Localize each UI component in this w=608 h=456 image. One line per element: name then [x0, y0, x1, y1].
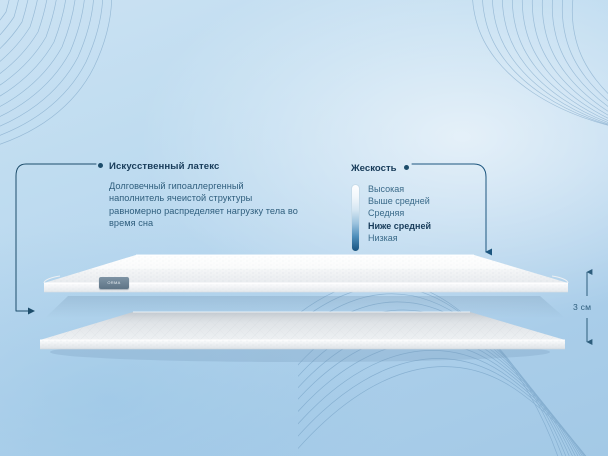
- bullet-dot-icon: [404, 165, 409, 170]
- latex-description: Долговечный гипоаллергенный наполнитель …: [109, 180, 298, 230]
- firmness-option-selected[interactable]: Ниже средней: [368, 220, 471, 232]
- firmness-scale-bar: [351, 184, 360, 252]
- latex-title: Искусственный латекс: [109, 161, 219, 172]
- firmness-option[interactable]: Низкая: [368, 232, 471, 244]
- firmness-option[interactable]: Высокая: [368, 183, 471, 195]
- firmness-options-list: Высокая Выше средней Средняя Ниже средне…: [368, 183, 471, 244]
- firmness-title: Жескость: [351, 163, 397, 174]
- thickness-label: 3 см: [573, 302, 591, 312]
- infographic-canvas: ORMA Искусственный латекс: [0, 0, 608, 456]
- callout-firmness: Жескость Высокая Выше средней Средняя Ни…: [351, 160, 471, 244]
- firmness-option[interactable]: Средняя: [368, 207, 471, 219]
- bullet-dot-icon: [98, 163, 103, 168]
- leader-lines: [0, 0, 608, 456]
- callout-latex: Искусственный латекс Долговечный гипоалл…: [98, 158, 298, 230]
- leader-line-latex: [16, 164, 96, 311]
- firmness-option[interactable]: Выше средней: [368, 195, 471, 207]
